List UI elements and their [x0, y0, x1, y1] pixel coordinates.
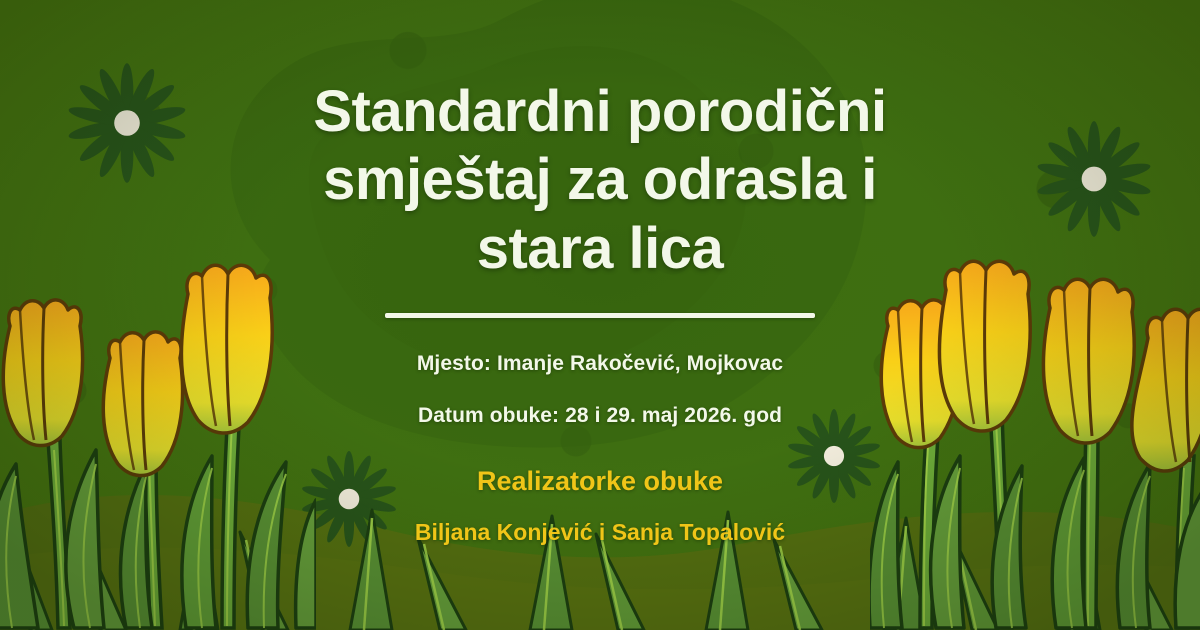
date-line: Datum obuke: 28 i 29. maj 2026. god — [0, 404, 1200, 428]
credit-heading: Realizatorke obuke — [0, 466, 1200, 497]
location-line: Mjesto: Imanje Rakočević, Mojkovac — [0, 352, 1200, 376]
poster-canvas: Standardni porodični smještaj za odrasla… — [0, 0, 1200, 630]
credit-names: Biljana Konjević i Sanja Topalović — [0, 519, 1200, 546]
poster-content: Standardni porodični smještaj za odrasla… — [0, 0, 1200, 546]
title-divider — [385, 313, 815, 318]
page-title: Standardni porodični smještaj za odrasla… — [260, 78, 940, 283]
